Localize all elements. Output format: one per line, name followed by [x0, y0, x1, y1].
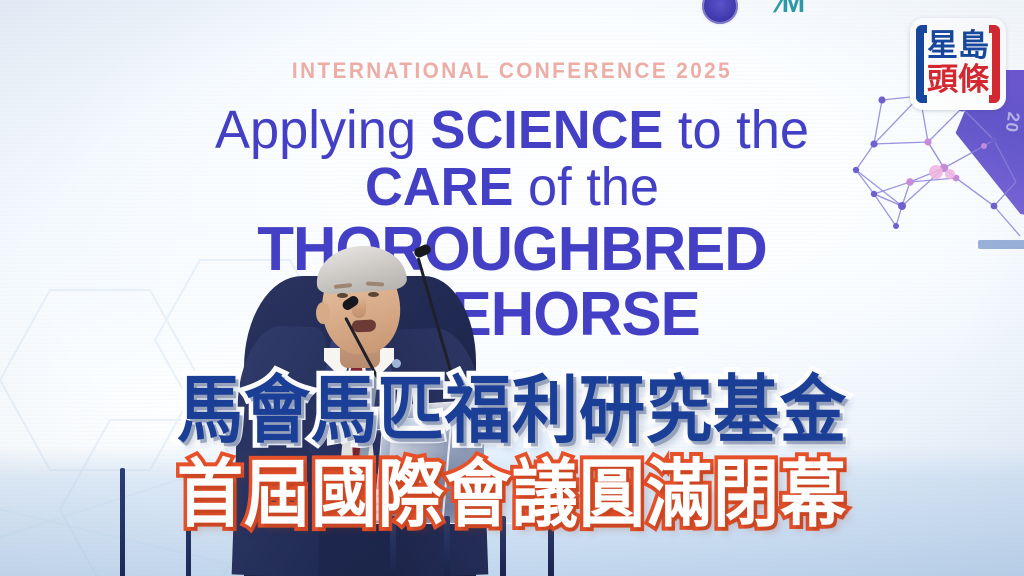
speaker-eyebrow-right: [366, 282, 384, 287]
news-image-canvas: 20: [0, 0, 1024, 576]
teal-logo-text: M: [782, 0, 804, 18]
speaker-eye-left: [337, 293, 348, 298]
logo-bracket-right: [989, 25, 1000, 103]
headline-line-2: 首屆國際會議圓滿閉幕: [0, 454, 1024, 537]
sing-tao-headline-logo[interactable]: 星島 頭條: [910, 18, 1006, 110]
speaker-eye-right: [368, 292, 379, 297]
title-part-science: SCIENCE: [431, 100, 664, 160]
partner-logos-strip: ⁄M: [700, 0, 856, 26]
conference-title-line-1: Applying SCIENCE to the: [15, 104, 1008, 157]
news-headline-overlay: 馬會馬匹福利研究基金 首屆國際會議圓滿閉幕: [0, 374, 1024, 532]
teal-swoosh-icon: ⁄M: [778, 0, 856, 20]
speaker-ear: [316, 302, 330, 324]
conference-kicker: INTERNATIONAL CONFERENCE 2025: [31, 58, 994, 84]
logo-text-bottom: 頭條: [926, 63, 990, 97]
title-part-of-the: of the: [513, 157, 659, 217]
speaker-mouth: [352, 319, 377, 332]
circular-seal-icon: [700, 0, 740, 26]
conference-title-line-2: CARE of the: [15, 161, 1008, 214]
speaker-hair: [315, 243, 408, 295]
headline-line-1: 馬會馬匹福利研究基金: [0, 370, 1024, 453]
title-part-applying: Applying: [215, 100, 430, 160]
title-part-to-the: to the: [663, 100, 809, 160]
logo-text-top: 星島: [926, 29, 990, 63]
